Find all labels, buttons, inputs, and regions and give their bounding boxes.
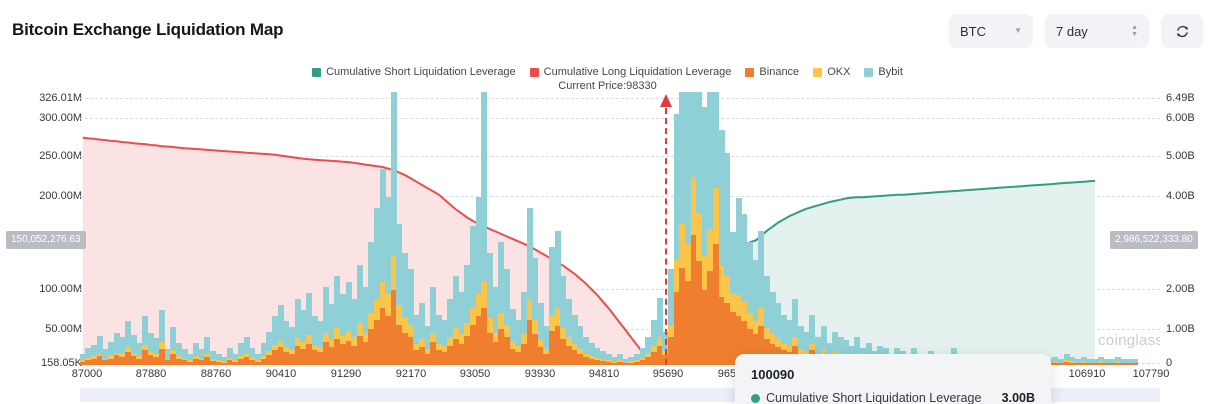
tooltip-row-cum-short: Cumulative Short Liquidation Leverage 3.… (751, 391, 1035, 404)
y-axis-right-tick: 2.00B (1166, 284, 1195, 295)
legend-swatch-cum-long (530, 68, 539, 77)
y-axis-left-tick: 50.00M (45, 324, 82, 335)
x-axis-tick: 87880 (136, 368, 167, 380)
legend-swatch-okx (813, 68, 822, 77)
x-axis-tick: 107790 (1133, 368, 1170, 380)
x-axis-tick: 87000 (72, 368, 103, 380)
current-price-label: Current Price:98330 (0, 80, 1215, 92)
y-axis-left-tick: 300.00M (39, 113, 82, 124)
legend-item-cum-long[interactable]: Cumulative Long Liquidation Leverage (530, 66, 732, 78)
x-axis-tick: 93930 (525, 368, 556, 380)
refresh-icon (1174, 23, 1191, 40)
right-axis-value-badge: 2,986,522,333.80 (1110, 231, 1198, 249)
tooltip-dot-cum-short (751, 394, 760, 403)
legend-swatch-binance (745, 68, 754, 77)
y-axis-right-tick: 5.00B (1166, 151, 1195, 162)
header-controls: BTC ▼ 7 day ▲▼ (949, 14, 1203, 48)
left-axis-value-badge: 150,052,276.63 (6, 231, 86, 249)
x-axis-tick: 94810 (589, 368, 620, 380)
plot-area: coinglass (80, 92, 1160, 365)
y-axis-right-tick: 6.49B (1166, 93, 1195, 104)
current-price-arrow-icon (660, 94, 672, 107)
liquidation-map-widget: Bitcoin Exchange Liquidation Map BTC ▼ 7… (0, 0, 1215, 404)
x-axis-tick: 92170 (396, 368, 427, 380)
range-select-value: 7 day (1056, 24, 1088, 39)
bar-segment-bybit (159, 310, 165, 342)
refresh-button[interactable] (1161, 14, 1203, 48)
legend-label-cum-short: Cumulative Short Liquidation Leverage (326, 66, 516, 78)
coin-select[interactable]: BTC ▼ (949, 14, 1033, 48)
legend-label-cum-long: Cumulative Long Liquidation Leverage (544, 66, 732, 78)
current-price-marker-line (665, 108, 667, 365)
coinglass-watermark: coinglass (1098, 332, 1160, 349)
legend-label-binance: Binance (759, 66, 799, 78)
legend-item-okx[interactable]: OKX (813, 66, 850, 78)
legend-label-bybit: Bybit (878, 66, 902, 78)
stepper-icon[interactable]: ▲▼ (1131, 25, 1138, 38)
legend-item-bybit[interactable]: Bybit (864, 66, 902, 78)
y-axis-left-tick: 250.00M (39, 151, 82, 162)
y-axis-left-tick: 100.00M (39, 284, 82, 295)
y-axis-left-tick: 200.00M (39, 191, 82, 202)
y-axis-right-tick: 4.00B (1166, 191, 1195, 202)
chart-legend: Cumulative Short Liquidation Leverage Cu… (0, 66, 1215, 78)
tooltip-name-cum-short: Cumulative Short Liquidation Leverage (766, 391, 990, 404)
range-select[interactable]: 7 day ▲▼ (1045, 14, 1149, 48)
chart-tooltip: 100090 Cumulative Short Liquidation Leve… (735, 354, 1051, 404)
chart-canvas: 326.01M300.00M250.00M200.00M100.00M50.00… (0, 92, 1215, 404)
y-axis-left-tick: 326.01M (39, 93, 82, 104)
coin-select-value: BTC (960, 24, 986, 39)
x-axis-tick: 91290 (331, 368, 362, 380)
x-axis-tick: 93050 (460, 368, 491, 380)
page-title: Bitcoin Exchange Liquidation Map (12, 20, 283, 40)
legend-item-cum-short[interactable]: Cumulative Short Liquidation Leverage (312, 66, 516, 78)
widget-header: Bitcoin Exchange Liquidation Map BTC ▼ 7… (0, 0, 1215, 62)
legend-swatch-bybit (864, 68, 873, 77)
x-axis-tick: 106910 (1069, 368, 1106, 380)
exchange-bars (80, 92, 1160, 365)
tooltip-value-cum-short: 3.00B (1002, 391, 1035, 404)
legend-swatch-cum-short (312, 68, 321, 77)
legend-item-binance[interactable]: Binance (745, 66, 799, 78)
x-axis-tick: 95690 (653, 368, 684, 380)
x-axis-tick: 90410 (266, 368, 297, 380)
y-axis-right-tick: 6.00B (1166, 113, 1195, 124)
x-axis-tick: 88760 (201, 368, 232, 380)
y-axis-right-tick: 1.00B (1166, 324, 1195, 335)
tooltip-title: 100090 (751, 367, 1035, 382)
legend-label-okx: OKX (827, 66, 850, 78)
chevron-down-icon: ▼ (1014, 27, 1022, 35)
